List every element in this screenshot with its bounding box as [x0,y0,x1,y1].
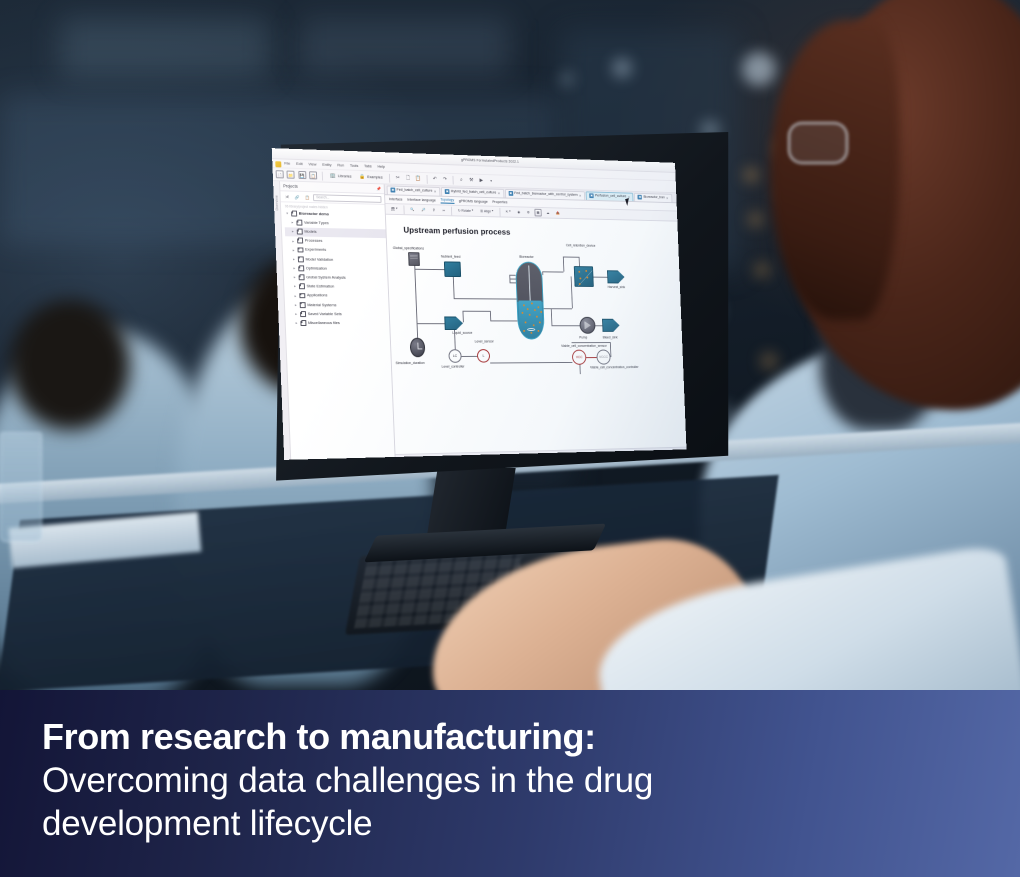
bokeh-light [754,262,770,278]
wire [509,275,515,276]
level-sensor-glyph: L [483,354,485,358]
toolbar-separator [451,206,452,215]
banner-subhead-line-2: development lifecycle [42,803,980,846]
wire [595,325,602,326]
node-liquid-source[interactable] [444,316,463,330]
chevron-right-icon[interactable]: ▸ [294,303,298,307]
label-harvest-sink: Harvest_sink [608,285,626,289]
folder-icon [291,211,298,216]
banner-headline: From research to manufacturing: [42,716,980,758]
wire [551,325,579,326]
connect-icon[interactable]: ⇱▾ [503,208,513,216]
sub-tab-interface[interactable]: Interface [389,197,403,202]
folder-icon [299,284,306,289]
chevron-right-icon[interactable]: ▸ [292,266,296,270]
label-global-specifications: Global_specifications [393,246,424,251]
cell-particle [531,302,533,304]
toolbar-separator [403,205,404,214]
wire [542,271,563,272]
wire [563,257,564,272]
toolbar-separator [389,173,390,182]
chevron-right-icon[interactable]: ▸ [294,321,298,325]
tab-label: Fed_batch_bioreactor_with_control_system [514,192,577,198]
diagram-icon: ▣ [508,191,513,196]
node-nutrient-feed[interactable] [444,261,461,277]
link-icon[interactable]: 🔗 [293,193,301,201]
close-icon[interactable]: ✕ [498,191,501,195]
zoom-out-icon[interactable]: 🔎 [419,206,428,214]
wire [551,308,552,325]
tree-item-label: Saved Variable Sets [308,312,342,317]
node-pump[interactable] [579,317,595,334]
diagram-icon: ▣ [638,195,642,200]
folder-icon [300,321,307,326]
folder-icon [299,293,306,298]
redo-icon[interactable]: ↷ [441,176,448,183]
diagram-icon: ▣ [589,194,594,199]
wire [414,266,417,338]
tree-item-label: Global System Analysis [306,275,346,280]
wire [490,311,491,321]
toolbar-separator [453,175,454,184]
menu-item-run[interactable]: Run [337,163,344,168]
label-nutrient-feed: Nutrient_feed [441,255,461,260]
align-label: Align [484,209,491,213]
impeller [527,328,535,331]
cut-icon[interactable]: ✂ [394,174,401,182]
chevron-right-icon[interactable]: ▸ [292,257,296,261]
project-tree: ▾ Bioreactor demo ▸ Variable Types [281,209,389,328]
folder-icon [298,266,305,271]
page-root: gPROMS FormulatedProducts 2022.1 – □ ✕ F… [0,0,1020,877]
tree-item-label: Experiments [305,248,326,253]
node-global-specifications[interactable] [408,252,420,266]
node-vcc-sensor[interactable]: VCC [572,350,587,365]
cell-particle [530,332,532,334]
zoom-fit-icon[interactable]: ⚲ [430,206,438,214]
bokeh-light [748,212,763,227]
hero-photo: gPROMS FormulatedProducts 2022.1 – □ ✕ F… [0,0,1020,692]
app-window: gPROMS FormulatedProducts 2022.1 – □ ✕ F… [272,148,687,460]
tab-label: Hybrid_fed_batch_cell_culture [451,190,497,196]
tree-item-label: Applications [307,294,328,299]
node-level-sensor[interactable]: L [477,349,490,362]
label-bioreactor: Bioreactor [519,255,533,259]
cell-particle [525,321,527,323]
toolbar-separator [426,175,427,184]
editor-area: ▣ Fed_batch_cell_culture ✕ ▣ Hybrid_fed_… [385,184,687,459]
open-folder-icon[interactable]: 📁 [287,171,295,179]
background-panel [300,18,510,76]
bokeh-light [560,72,574,86]
wire [509,279,515,280]
cell-particle [527,308,529,310]
tree-item-label: State Estimation [306,284,334,289]
folder-icon [300,312,307,317]
tab-label: Perfusion_cell_culture [595,194,626,199]
menu-item-edit[interactable]: Edit [296,162,303,167]
pin-icon[interactable]: 📌 [376,186,381,191]
chevron-right-icon[interactable]: ▸ [290,221,294,225]
cell-particle [539,321,541,323]
examples-button[interactable]: 🔒 Examples [357,173,385,182]
examples-label: Examples [367,175,383,180]
wire [563,257,579,258]
cell-particle [540,311,542,313]
search-icon[interactable]: ⌕ [458,176,465,183]
rotate-label: Rotate [461,209,471,213]
new-project-icon[interactable]: 🗎 [283,193,291,201]
sub-tab-gproms-language[interactable]: gPROMS language [459,199,488,204]
toolbar-separator [499,207,500,216]
folder-icon [298,275,305,280]
cell-particle [522,312,524,314]
sub-tab-topology[interactable]: Topology [440,197,454,204]
node-level-controller[interactable]: LC [448,349,461,363]
cell-particle [537,306,539,308]
toolbar-separator [322,171,323,180]
wire [509,275,510,283]
wire [579,365,580,374]
wire [453,277,454,298]
run-icon[interactable]: ▶ [478,177,485,184]
grid-icon[interactable]: ▦ [534,209,542,217]
cell-particle [534,309,536,311]
level-controller-glyph: LC [453,354,457,358]
menu-item-tabs[interactable]: Tabs [364,164,372,169]
wire [551,308,572,309]
wire [462,311,463,323]
folder-icon [297,248,304,253]
close-icon[interactable]: ✕ [666,196,669,200]
caption-banner: From research to manufacturing: Overcomi… [0,690,1020,877]
menu-item-entity[interactable]: Entity [322,162,331,167]
label-bleed-sink: Bleed_sink [603,336,618,340]
node-cell-retention-device[interactable] [574,266,594,287]
zoom-in-icon[interactable]: 🔍 [408,206,417,214]
save-all-icon[interactable]: 📋 [309,171,317,179]
menu-item-view[interactable]: View [308,162,316,167]
tree-item-label: Miscellaneous files [308,321,340,326]
cell-particle [537,330,539,332]
align-button[interactable]: ☰Align▾ [478,207,496,215]
run-dropdown-icon[interactable]: ▾ [488,177,495,184]
zoom-selection-icon[interactable]: ⤖ [440,206,448,214]
undo-icon[interactable]: ↶ [431,175,438,182]
bokeh-light [612,58,632,78]
menu-item-file[interactable]: File [284,161,290,166]
tree-item-label: Optimisation [306,266,327,271]
vcc-controller-glyph: VCCC [599,355,608,359]
monitor: gPROMS FormulatedProducts 2022.1 – □ ✕ F… [262,132,732,482]
folder-icon [297,239,304,244]
folder-icon [297,257,304,262]
label-level-sensor: Level_sensor [475,340,494,344]
label-liquid-source: Liquid_source [452,331,472,335]
tab-bioreactor-tran[interactable]: ▣ Bioreactor_tran ✕ [634,192,672,202]
topology-canvas[interactable]: Upstream perfusion process Global_specif… [386,215,687,454]
wire [579,257,580,266]
libraries-button[interactable]: 🏢 Libraries [327,172,354,181]
copy-icon[interactable]: 🗋 [404,175,411,183]
wire-signal [586,357,596,358]
bokeh-light [742,52,776,86]
cell-particle [529,314,531,316]
export-icon[interactable]: 📤 [554,209,563,217]
label-vcc-sensor: Viable_cell_concentration_sensor [561,344,607,348]
library-icon: 🏢 [329,172,337,180]
diagram-title: Upstream perfusion process [403,225,510,237]
banner-subhead-line-1: Overcoming data challenges in the drug [42,760,980,803]
tree-item-label: Variable Types [304,221,329,226]
chevron-right-icon[interactable]: ▸ [291,230,295,234]
search-input[interactable]: Search... [313,194,381,203]
label-pump: Pump [579,336,587,340]
background-person-head [10,300,130,430]
diagram-icon: ▣ [445,189,450,194]
projects-title: Projects [283,183,298,189]
tree-root-label: Bioreactor demo [299,211,329,217]
node-bioreactor[interactable] [515,261,545,339]
cell-particle [536,316,538,318]
node-harvest-sink[interactable] [607,270,625,283]
label-level-controller: Level_controller [442,365,465,369]
membrane-diagonal [574,266,594,287]
node-bleed-sink[interactable] [602,319,620,332]
menu-item-help[interactable]: Help [377,164,385,169]
tree-item-label: Model Validation [305,257,333,262]
select-tool-icon[interactable]: 🗃▾ [388,205,400,213]
tree-item-label: Models [304,230,316,235]
subject-glasses [788,122,848,164]
folder-icon [296,229,303,234]
tab-hybrid-fed-batch-cell-culture[interactable]: ▣ Hybrid_fed_batch_cell_culture ✕ [441,187,504,198]
menu-item-tools[interactable]: Tools [350,163,359,168]
projects-panel: Projects 📌 🗎 🔗 📋 Search... [280,181,396,460]
overview-rail-label: Overview [275,195,280,210]
window-body: Overview Projects 📌 🗎 🔗 📋 [273,181,686,460]
wire [490,320,517,321]
chevron-right-icon[interactable]: ▸ [291,239,295,243]
wire [510,282,516,283]
wire [610,342,611,357]
cell-particle [533,324,535,326]
copy-project-icon[interactable]: 📋 [303,193,311,201]
save-icon[interactable]: 💾 [298,171,306,179]
wire [462,311,489,312]
bokeh-light [760,352,778,370]
label-cell-retention-device: Cell_retention_device [566,243,596,248]
tree-item-label: Material Systems [307,303,336,308]
tree-item-saved-variable-sets[interactable]: ▸ Saved Variable Sets [288,310,389,319]
layers-icon[interactable]: ☁ [544,209,552,217]
beaker [0,432,42,542]
folder-icon [299,302,306,307]
background-panel [60,18,270,78]
wire [571,276,573,308]
chevron-right-icon[interactable]: ▸ [293,275,297,279]
cell-particle [523,330,525,332]
wire [593,277,607,278]
vessel-liquid [518,301,543,338]
cell-particle [523,304,525,306]
close-icon[interactable]: ✕ [579,194,582,198]
new-file-icon[interactable]: 🗋 [276,170,284,178]
label-vcc-controller: Viable_cell_concentration_controller [590,365,639,369]
subject-hair-front [770,20,900,320]
chevron-right-icon[interactable]: ▸ [293,285,297,289]
wire [544,308,551,309]
clock-hand [418,348,423,349]
close-icon[interactable]: ✕ [434,189,437,193]
folder-icon [296,220,303,225]
wire [490,362,572,363]
block-icon[interactable]: ◉ [515,208,523,216]
window-title: gPROMS FormulatedProducts 2022.1 [461,158,519,164]
tree-item-miscellaneous-files[interactable]: ▸ Miscellaneous files [288,319,389,328]
monitor-screen: gPROMS FormulatedProducts 2022.1 – □ ✕ F… [272,148,687,460]
sub-tab-interface-language[interactable]: Interface language [407,197,436,202]
search-placeholder: Search... [316,195,329,200]
wire [462,356,478,357]
tree-item-label: Processes [305,239,323,244]
wire [417,323,445,324]
wire [414,269,444,270]
sub-tab-properties[interactable]: Properties [492,200,507,205]
tab-fed-batch-cell-culture[interactable]: ▣ Fed_batch_cell_culture ✕ [387,185,441,196]
tab-label: Fed_batch_cell_culture [397,188,433,194]
tab-label: Bioreactor_tran [643,195,665,200]
diagram-icon: ▣ [390,188,395,193]
chevron-down-icon[interactable]: ▾ [285,211,289,215]
chevron-right-icon[interactable]: ▸ [292,248,296,252]
label-simulation-duration: Simulation_duration [396,361,425,365]
lock-icon: 🔒 [358,173,365,181]
settings-icon[interactable]: ⚙ [525,209,533,217]
wire [454,298,521,299]
bokeh-light [744,168,758,182]
chevron-right-icon[interactable]: ▸ [294,312,298,316]
build-icon[interactable]: ⚒ [468,177,475,184]
vcc-sensor-glyph: VCC [576,355,583,359]
paste-icon[interactable]: 📋 [415,175,422,182]
wire [572,342,610,343]
libraries-label: Libraries [338,174,352,179]
tree-item-material-systems[interactable]: ▸ Material Systems [288,300,389,310]
chevron-right-icon[interactable]: ▸ [293,294,297,298]
app-logo-icon [275,161,281,167]
node-vcc-controller[interactable]: VCCC [596,350,610,365]
rotate-button[interactable]: ↻Rotate▾ [455,207,475,215]
